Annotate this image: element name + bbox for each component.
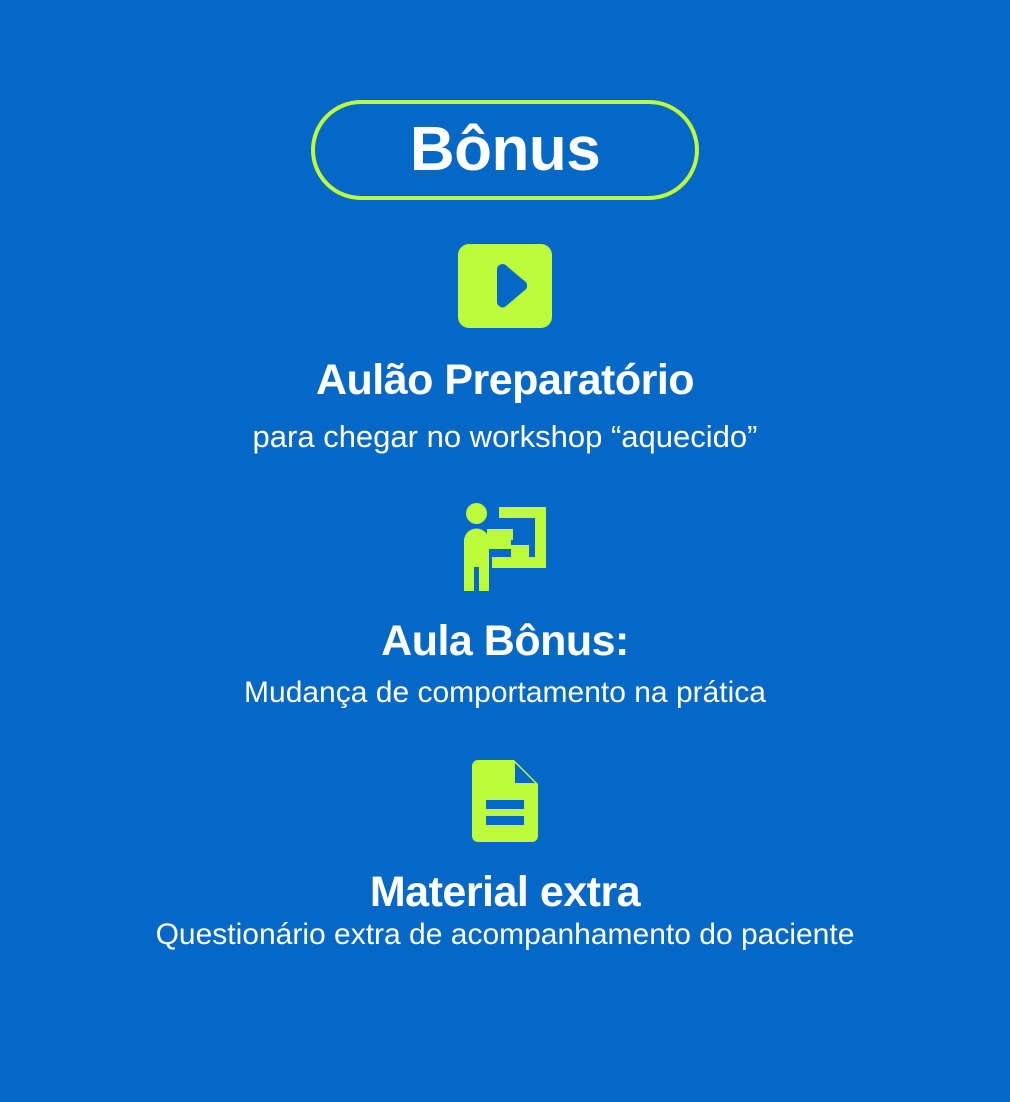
- item-subtitle: Questionário extra de acompanhamento do …: [156, 918, 855, 953]
- play-video-icon: [458, 244, 552, 328]
- item-subtitle: para chegar no workshop “aquecido”: [253, 419, 758, 455]
- item-title: Aulão Preparatório: [316, 358, 694, 403]
- document-icon: [472, 760, 538, 842]
- bonus-item-aulao: Aulão Preparatório para chegar no worksh…: [0, 244, 1010, 455]
- bonus-section: Bônus Aulão Preparatório para chegar no …: [0, 0, 1010, 1102]
- item-title: Aula Bônus:: [381, 619, 629, 664]
- bonus-item-material-extra: Material extra Questionário extra de aco…: [0, 760, 1010, 952]
- bonus-badge: Bônus: [311, 100, 699, 200]
- bonus-item-aula-bonus: Aula Bônus: Mudança de comportamento na …: [0, 503, 1010, 711]
- item-subtitle: Mudança de comportamento na prática: [244, 676, 766, 711]
- item-title: Material extra: [370, 870, 640, 915]
- bonus-badge-label: Bônus: [410, 119, 600, 181]
- presenter-board-icon: [459, 503, 551, 591]
